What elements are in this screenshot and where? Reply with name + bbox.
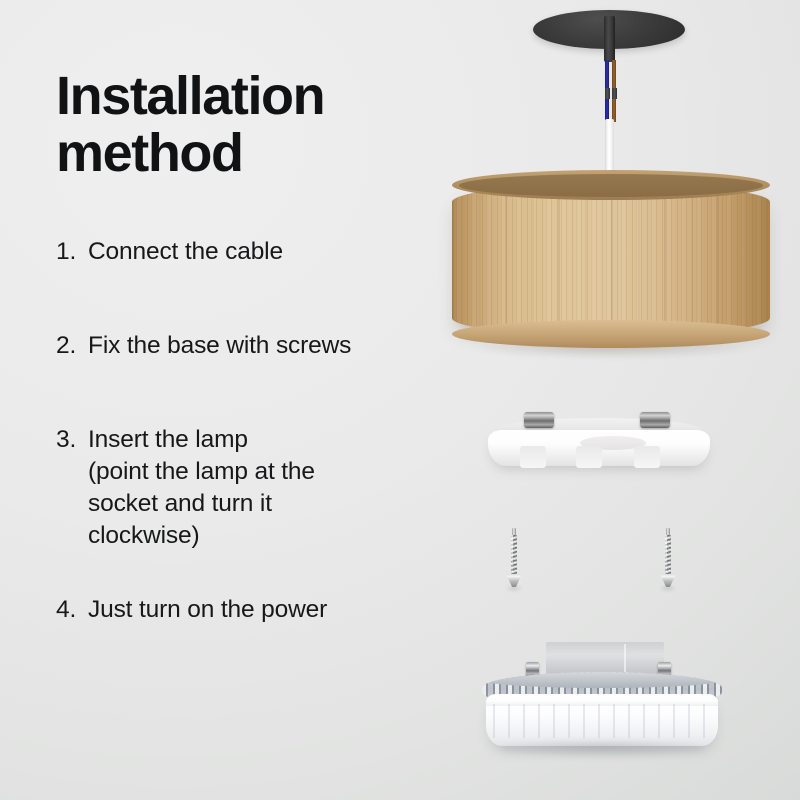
cable-sheath <box>604 16 615 62</box>
installation-infographic: Installation method 1. Connect the cable… <box>0 0 800 800</box>
screw-highlight <box>665 535 667 577</box>
lamp-backplate-seam <box>624 644 626 672</box>
wire-connector-band-blue <box>605 88 610 99</box>
step-number-2: 2. <box>56 330 88 362</box>
step-item-2: 2. Fix the base with screws <box>56 330 466 362</box>
step-number-3: 3. <box>56 424 88 456</box>
lamp-backplate <box>546 642 664 674</box>
lamp-diffuser-body <box>486 694 718 746</box>
base-terminal-left <box>524 412 554 428</box>
base-plate-notch-a <box>520 446 546 468</box>
lamp-body-ribs <box>486 704 718 738</box>
shade-bottom-rim <box>452 320 770 348</box>
page-title: Installation method <box>56 68 466 182</box>
led-lamp-module <box>482 642 722 750</box>
product-illustration-column <box>430 0 800 800</box>
step-spacer-2 <box>56 362 466 424</box>
step-number-4: 4. <box>56 594 88 626</box>
step-number-1: 1. <box>56 236 88 268</box>
steps-list: 1. Connect the cable 2. Fix the base wit… <box>56 236 466 625</box>
wire-connector-band-brown <box>612 88 617 99</box>
shade-inner-cavity <box>459 174 763 197</box>
wood-drum-shade <box>452 170 770 348</box>
lamp-heatsink-top-ring <box>482 672 722 688</box>
white-cord <box>605 119 614 177</box>
step-item-1: 1. Connect the cable <box>56 236 466 268</box>
step-text-2: Fix the base with screws <box>88 330 466 362</box>
mounting-base-plate <box>488 418 710 474</box>
base-plate-notch-b <box>576 446 602 468</box>
step-text-3: Insert the lamp (point the lamp at the s… <box>88 424 466 551</box>
step-spacer-1 <box>56 268 466 330</box>
step-text-4: Just turn on the power <box>88 594 466 626</box>
base-terminal-right <box>640 412 670 428</box>
screw-highlight <box>511 535 513 577</box>
shade-body <box>452 184 770 336</box>
step-spacer-3 <box>56 552 466 594</box>
base-plate-notch-c <box>634 446 660 468</box>
instructions-column: Installation method 1. Connect the cable… <box>56 68 466 625</box>
lamp-drop-shadow <box>500 742 704 756</box>
mounting-screw-left <box>506 528 522 590</box>
wood-grain-texture-secondary <box>452 184 770 336</box>
step-item-4: 4. Just turn on the power <box>56 594 466 626</box>
base-plate-front-face <box>488 430 710 466</box>
screw-drop-shadow <box>661 586 675 591</box>
step-item-3: 3. Insert the lamp (point the lamp at th… <box>56 424 466 551</box>
shade-top-rim <box>452 170 770 200</box>
mounting-screw-right <box>660 528 676 590</box>
screw-drop-shadow <box>507 586 521 591</box>
step-text-1: Connect the cable <box>88 236 466 268</box>
